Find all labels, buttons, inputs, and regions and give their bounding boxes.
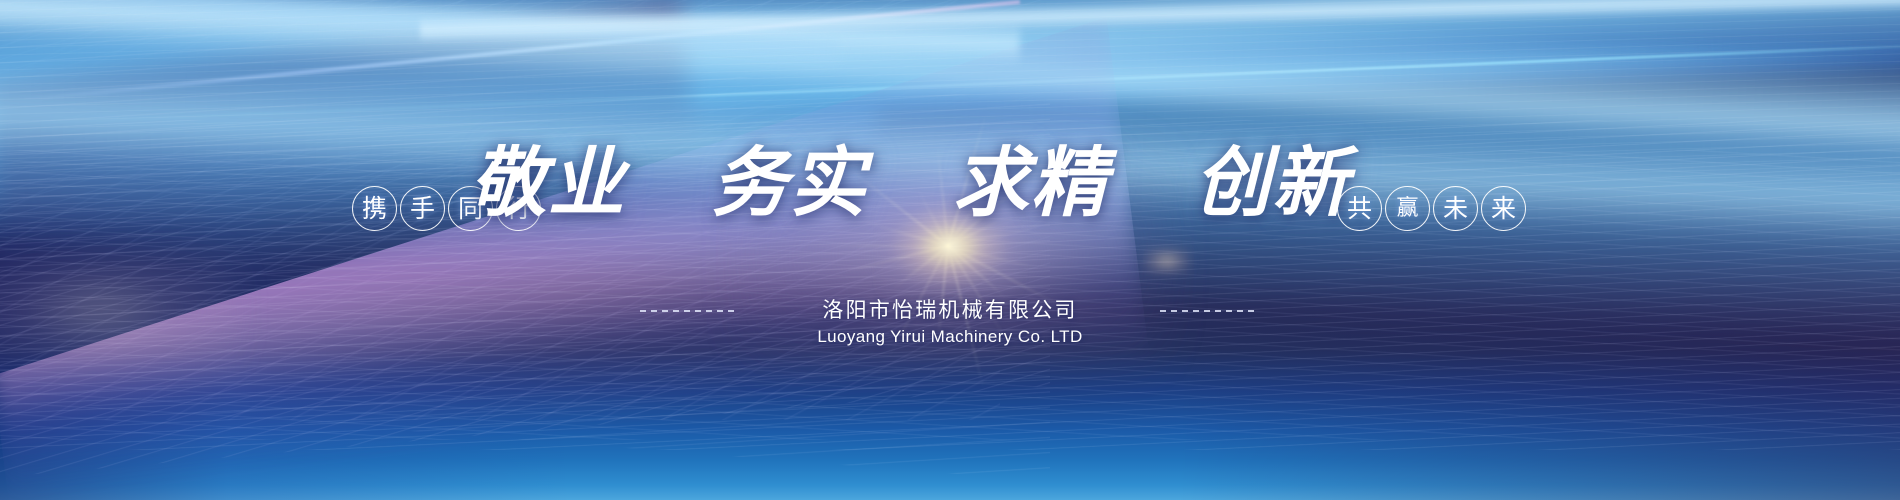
hero-banner: 携 手 同 行 敬业 务实 求精 创新 共 赢 未 来 洛阳市怡瑞机械有限公司 …: [0, 0, 1900, 500]
circled-char-xie: 携: [352, 186, 397, 231]
slogan-word-qiujing: 求精: [953, 145, 1109, 221]
slogan-word-chuangxin: 创新: [1194, 145, 1350, 221]
slogan-word-wushi: 务实: [711, 145, 867, 221]
company-name-cn: 洛阳市怡瑞机械有限公司: [0, 296, 1900, 324]
circled-char-wei: 未: [1433, 186, 1478, 231]
circled-char-ying: 赢: [1385, 186, 1430, 231]
company-identity: 洛阳市怡瑞机械有限公司 Luoyang Yirui Machinery Co. …: [0, 296, 1900, 349]
banner-content: 携 手 同 行 敬业 务实 求精 创新 共 赢 未 来 洛阳市怡瑞机械有限公司 …: [0, 0, 1900, 500]
circled-phrase-right: 共 赢 未 来: [1337, 186, 1526, 231]
slogan-word-jingye: 敬业: [470, 145, 626, 221]
circled-char-shou: 手: [400, 186, 445, 231]
slogan-calligraphy: 敬业 务实 求精 创新: [470, 128, 1350, 238]
circled-char-gong: 共: [1337, 186, 1382, 231]
circled-char-lai: 来: [1481, 186, 1526, 231]
company-name-en: Luoyang Yirui Machinery Co. LTD: [0, 324, 1900, 349]
